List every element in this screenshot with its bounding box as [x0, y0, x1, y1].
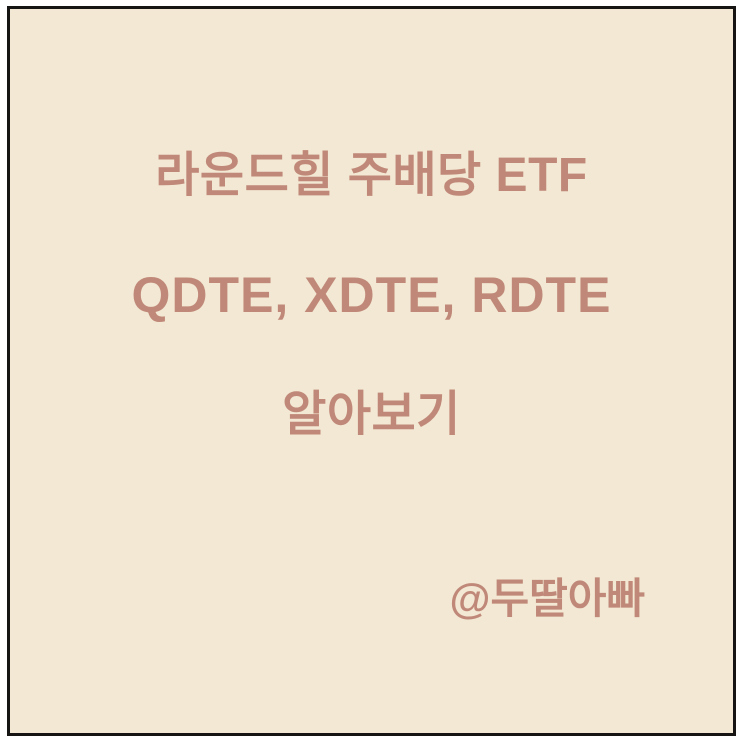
- headline-line-3: 알아보기: [10, 385, 733, 445]
- author-watermark: @두딸아빠: [449, 573, 645, 625]
- poster-frame: 라운드힐 주배당 ETF QDTE, XDTE, RDTE 알아보기 @두딸아빠: [7, 6, 736, 736]
- poster-image: 라운드힐 주배당 ETF QDTE, XDTE, RDTE 알아보기 @두딸아빠: [0, 0, 743, 743]
- headline-line-1: 라운드힐 주배당 ETF: [10, 146, 733, 206]
- headline-line-2: QDTE, XDTE, RDTE: [10, 265, 733, 325]
- poster-canvas: 라운드힐 주배당 ETF QDTE, XDTE, RDTE 알아보기 @두딸아빠: [10, 9, 733, 733]
